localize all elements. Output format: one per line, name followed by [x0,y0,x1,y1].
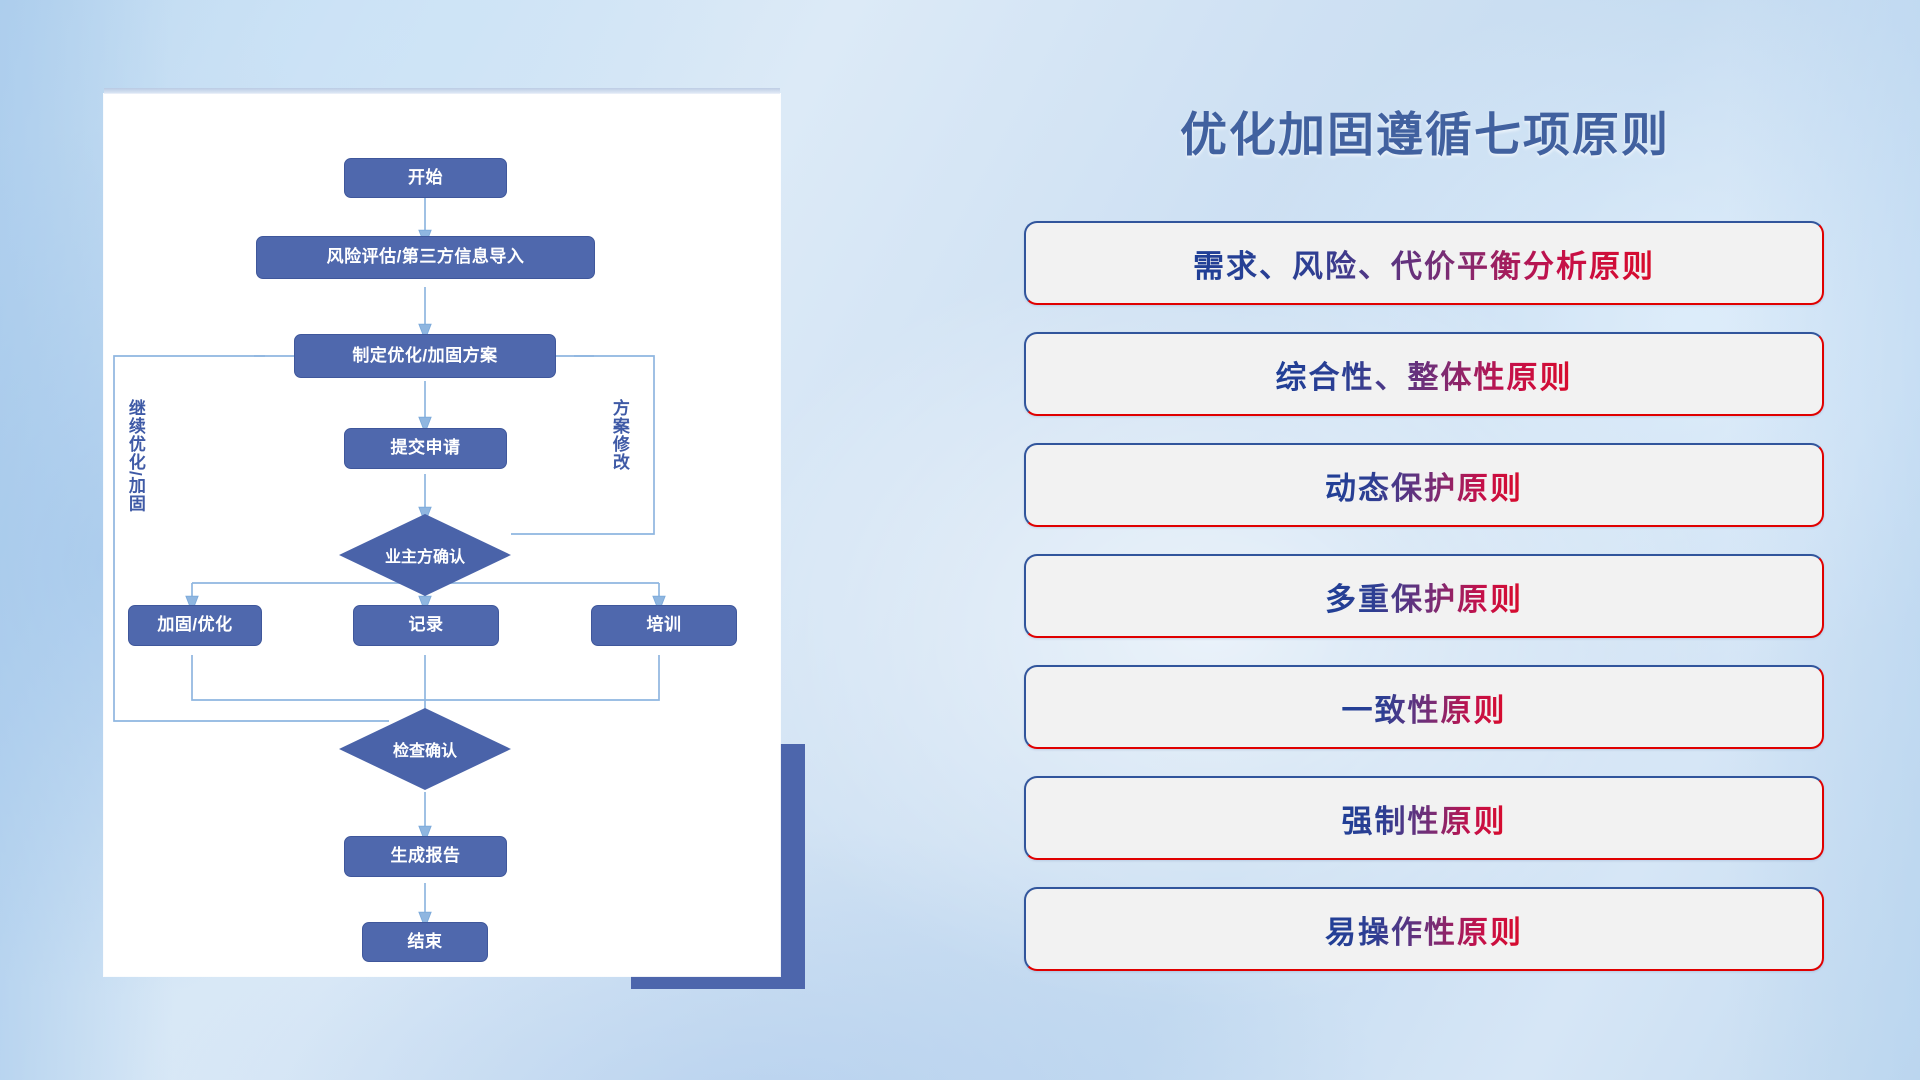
principle-card-3[interactable]: 动态保护原则 [1024,443,1824,527]
principle-label: 易操作性原则 [1325,907,1523,952]
principle-card-5[interactable]: 一致性原则 [1024,665,1824,749]
principle-label: 一致性原则 [1342,685,1507,730]
flow-node-end[interactable]: 结束 [362,922,488,962]
principle-card-2[interactable]: 综合性、整体性原则 [1024,332,1824,416]
principle-label: 强制性原则 [1342,796,1507,841]
flow-node-record[interactable]: 记录 [353,605,499,646]
page-title: 优化加固遵循七项原则 [1010,96,1840,165]
principles-panel: 优化加固遵循七项原则 需求、风险、代价平衡分析原则 综合性、整体性原则 动态保护… [1010,96,1840,1026]
principle-label: 动态保护原则 [1325,463,1523,508]
flow-node-risk-assessment[interactable]: 风险评估/第三方信息导入 [256,236,595,279]
flowchart-panel: 开始 风险评估/第三方信息导入 制定优化/加固方案 提交申请 业主方确认 加固/… [104,94,794,1004]
flow-edge-label-plan-revision: 方案修改 [610,399,628,471]
flow-node-start[interactable]: 开始 [344,158,507,198]
principle-label: 综合性、整体性原则 [1276,352,1573,397]
principle-label: 多重保护原则 [1325,574,1523,619]
flow-node-generate-report[interactable]: 生成报告 [344,836,507,877]
flow-node-reinforce-optimize[interactable]: 加固/优化 [128,605,262,646]
principle-card-1[interactable]: 需求、风险、代价平衡分析原则 [1024,221,1824,305]
flow-node-submit-application[interactable]: 提交申请 [344,428,507,469]
flowchart-card: 开始 风险评估/第三方信息导入 制定优化/加固方案 提交申请 业主方确认 加固/… [104,94,780,976]
principle-card-7[interactable]: 易操作性原则 [1024,887,1824,971]
principle-label: 需求、风险、代价平衡分析原则 [1193,241,1655,286]
principles-list: 需求、风险、代价平衡分析原则 综合性、整体性原则 动态保护原则 多重保护原则 一… [1024,221,1824,998]
principle-card-4[interactable]: 多重保护原则 [1024,554,1824,638]
flow-edge-label-continue-optimize: 继续优化/加固 [126,399,144,513]
principle-card-6[interactable]: 强制性原则 [1024,776,1824,860]
flow-node-training[interactable]: 培训 [591,605,737,646]
flow-node-plan[interactable]: 制定优化/加固方案 [294,334,556,378]
